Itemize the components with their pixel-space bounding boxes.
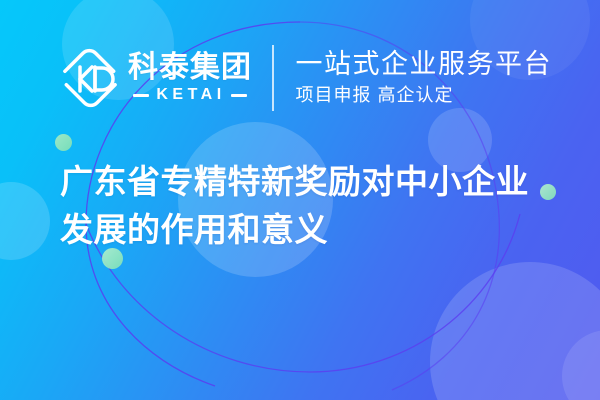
logo-company-name-en: KETAI <box>156 86 225 104</box>
banner-title: 广东省专精特新奖励对中小企业发展的作用和意义 <box>60 158 560 254</box>
logo-company-name-cn: 科泰集团 <box>128 52 252 84</box>
logo-company-name-en-row: KETAI <box>128 86 252 104</box>
logo-dash-left <box>133 94 149 97</box>
tagline-secondary: 项目申报 高企认定 <box>296 85 553 107</box>
header-divider <box>272 45 274 111</box>
logo-dash-right <box>231 94 247 97</box>
decorative-circle <box>0 182 50 260</box>
tagline-primary: 一站式企业服务平台 <box>296 49 553 79</box>
promo-banner: 科泰集团 KETAI 一站式企业服务平台 项目申报 高企认定 广东省专精特新奖励… <box>0 0 600 400</box>
banner-header: 科泰集团 KETAI 一站式企业服务平台 项目申报 高企认定 <box>60 42 552 114</box>
decorative-circle <box>430 262 600 400</box>
tagline-block: 一站式企业服务平台 项目申报 高企认定 <box>296 49 553 107</box>
decorative-circle <box>562 330 600 400</box>
decorative-accent-dot <box>55 134 72 151</box>
logo-wordmark: 科泰集团 KETAI <box>128 52 252 105</box>
ketai-logo-icon <box>60 47 120 109</box>
